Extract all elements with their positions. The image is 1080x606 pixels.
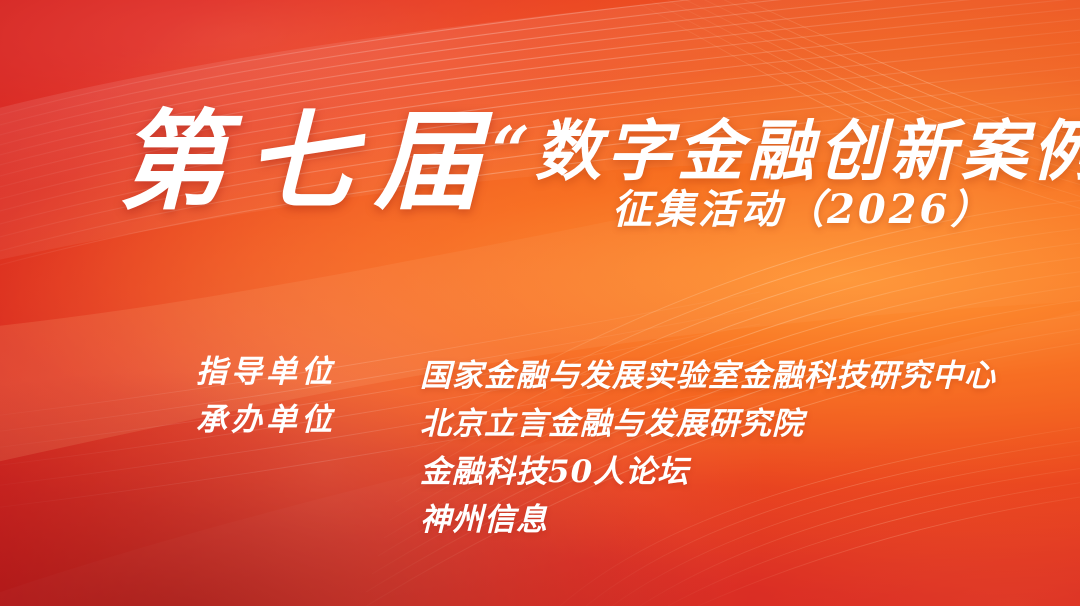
event-poster: 第七届 “数字金融创新案例” 征集活动（2026） 指导单位 国家金融与发展实验… xyxy=(0,0,1080,606)
background-vignette xyxy=(0,0,1080,606)
